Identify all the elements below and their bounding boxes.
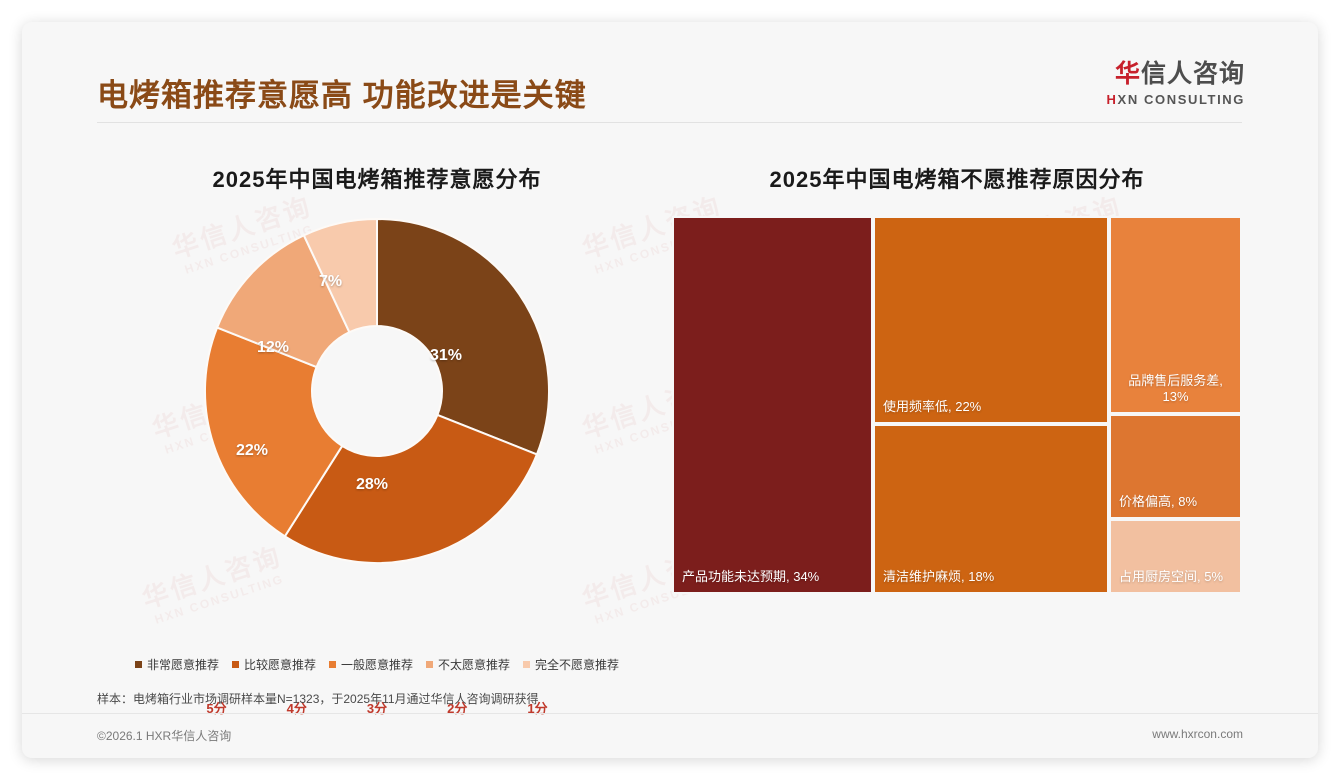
donut-label-4: 7% [319, 273, 342, 291]
treemap-cell-label: 品牌售后服务差, 13% [1117, 373, 1234, 406]
donut-chart-title: 2025年中国电烤箱推荐意愿分布 [97, 162, 657, 194]
logo-letter-h: H [1107, 92, 1118, 107]
slide-header: 电烤箱推荐意愿高 功能改进是关键 华信人咨询 HXN CONSULTING [22, 22, 1318, 122]
donut-legend: 非常愿意推荐 比较愿意推荐 一般愿意推荐 不太愿意推荐 完全不愿意推荐 [97, 656, 657, 673]
donut-chart-panel: 2025年中国电烤箱推荐意愿分布 31% 28% [97, 162, 657, 608]
legend-label-0: 非常愿意推荐 [147, 656, 219, 673]
donut-label-2: 22% [236, 442, 268, 460]
legend-item-3[interactable]: 不太愿意推荐 [426, 656, 510, 673]
treemap-chart: 产品功能未达预期, 34% 使用频率低, 22% 清洁维护麻烦, 18% 品牌售… [672, 216, 1242, 594]
logo-english-rest: XN CONSULTING [1118, 92, 1245, 107]
treemap-cell-label: 占用厨房空间, 5% [1119, 569, 1232, 585]
donut-chart: 31% 28% 22% 12% 7% 非常愿意推荐 比较愿意推荐 一般愿意推荐 [97, 208, 657, 608]
donut-label-3: 12% [257, 339, 289, 357]
logo-chinese-rest: 信人咨询 [1141, 60, 1245, 88]
treemap-cell-high-price[interactable]: 价格偏高, 8% [1109, 414, 1242, 519]
slide-card: 华信人咨询 HXN CONSULTING 华信人咨询 HXN CONSULTIN… [22, 22, 1318, 758]
legend-swatch-icon [426, 661, 433, 668]
legend-label-1: 比较愿意推荐 [244, 656, 316, 673]
donut-label-0: 31% [430, 347, 462, 365]
logo-char-hua: 华 [1115, 60, 1141, 88]
legend-label-2: 一般愿意推荐 [341, 656, 413, 673]
treemap-cell-after-sales[interactable]: 品牌售后服务差, 13% [1109, 216, 1242, 414]
treemap-cell-product-function[interactable]: 产品功能未达预期, 34% [672, 216, 873, 594]
page-title: 电烤箱推荐意愿高 功能改进是关键 [97, 70, 587, 115]
treemap-cell-label: 产品功能未达预期, 34% [682, 569, 863, 585]
treemap-cell-kitchen-space[interactable]: 占用厨房空间, 5% [1109, 519, 1242, 594]
legend-swatch-icon [523, 661, 530, 668]
donut-svg [202, 216, 552, 566]
legend-swatch-icon [135, 661, 142, 668]
legend-item-2[interactable]: 一般愿意推荐 [329, 656, 413, 673]
treemap-chart-panel: 2025年中国电烤箱不愿推荐原因分布 产品功能未达预期, 34% 使用频率低, … [672, 162, 1242, 594]
donut-label-1: 28% [356, 476, 388, 494]
legend-label-4: 完全不愿意推荐 [535, 656, 619, 673]
legend-label-3: 不太愿意推荐 [438, 656, 510, 673]
legend-item-0[interactable]: 非常愿意推荐 [135, 656, 219, 673]
logo-chinese: 华信人咨询 [1107, 62, 1245, 87]
footer-copyright: ©2026.1 HXR华信人咨询 [97, 727, 231, 744]
title-divider [97, 122, 1242, 123]
treemap-chart-title: 2025年中国电烤箱不愿推荐原因分布 [672, 162, 1242, 194]
slide-footer: ©2026.1 HXR华信人咨询 www.hxrcon.com [22, 714, 1318, 758]
treemap-cell-low-usage[interactable]: 使用频率低, 22% [873, 216, 1109, 424]
treemap-cell-label: 使用频率低, 22% [883, 399, 1099, 415]
legend-swatch-icon [232, 661, 239, 668]
legend-swatch-icon [329, 661, 336, 668]
company-logo: 华信人咨询 HXN CONSULTING [1107, 62, 1245, 106]
footer-website[interactable]: www.hxrcon.com [1152, 727, 1243, 741]
legend-item-1[interactable]: 比较愿意推荐 [232, 656, 316, 673]
logo-english: HXN CONSULTING [1107, 93, 1245, 106]
legend-item-4[interactable]: 完全不愿意推荐 [523, 656, 619, 673]
treemap-cell-label: 清洁维护麻烦, 18% [883, 569, 1099, 585]
treemap-cell-label: 价格偏高, 8% [1119, 494, 1232, 510]
sample-note: 样本：电烤箱行业市场调研样本量N=1323，于2025年11月通过华信人咨询调研… [97, 690, 897, 707]
treemap-cell-cleaning[interactable]: 清洁维护麻烦, 18% [873, 424, 1109, 594]
donut-slice-0[interactable] [377, 219, 549, 454]
